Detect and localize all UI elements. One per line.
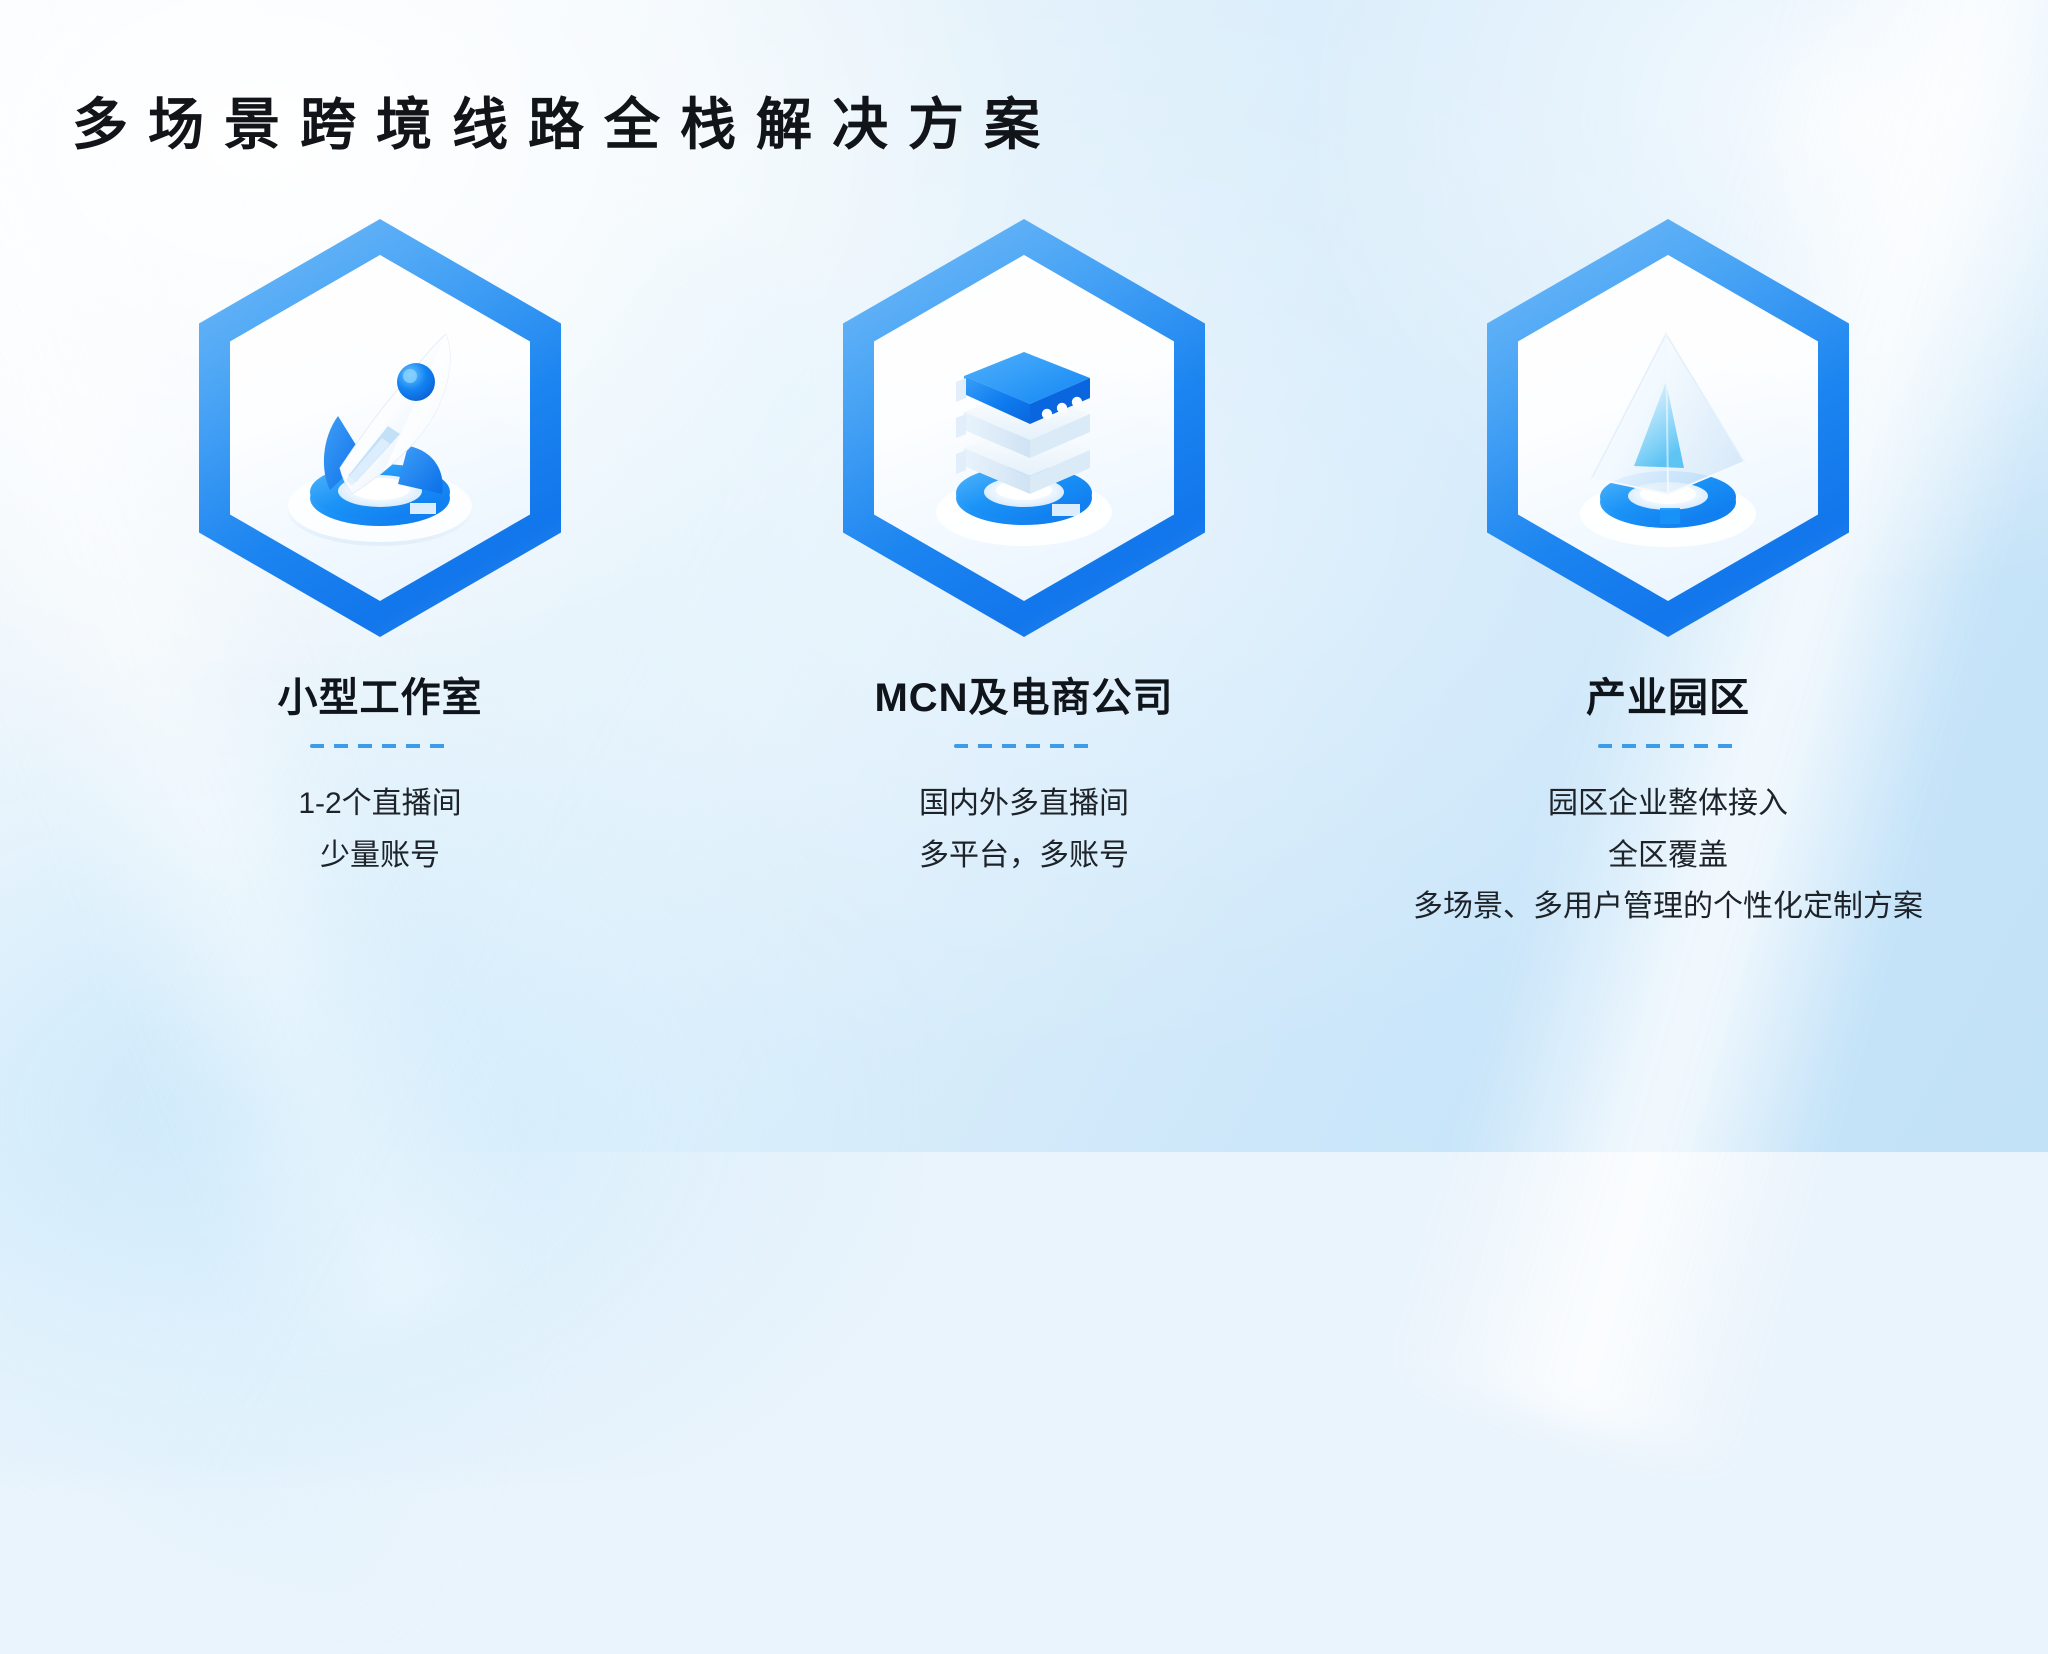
card-mcn-ecommerce[interactable]: MCN及电商公司 国内外多直播间 多平台，多账号 xyxy=(764,208,1284,933)
page-title: 多场景跨境线路全栈解决方案 xyxy=(72,94,1060,156)
rocket-hexagon-icon xyxy=(180,208,580,648)
card-industrial-park[interactable]: 产业园区 园区企业整体接入 全区覆盖 多场景、多用户管理的个性化定制方案 xyxy=(1408,208,1928,933)
card-description-line: 多场景、多用户管理的个性化定制方案 xyxy=(1413,881,1923,933)
glass-pyramid-hexagon-icon xyxy=(1468,208,1868,648)
rocket-svg xyxy=(260,298,500,558)
card-description-line: 全区覆盖 xyxy=(1413,830,1923,882)
card-divider xyxy=(954,744,1094,748)
card-small-studio[interactable]: 小型工作室 1-2个直播间 少量账号 xyxy=(120,208,640,933)
card-title: MCN及电商公司 xyxy=(874,674,1173,722)
pyramid-svg xyxy=(1548,298,1788,558)
server-stack-illustration xyxy=(874,255,1174,601)
card-description-line: 园区企业整体接入 xyxy=(1413,778,1923,830)
card-title: 产业园区 xyxy=(1586,674,1750,722)
card-description: 1-2个直播间 少量账号 xyxy=(298,778,461,881)
solution-cards-row: 小型工作室 1-2个直播间 少量账号 xyxy=(0,208,2048,933)
server-stack-svg xyxy=(904,298,1144,558)
card-description-line: 1-2个直播间 xyxy=(298,778,461,830)
card-description-line: 国内外多直播间 xyxy=(919,778,1129,830)
card-description: 园区企业整体接入 全区覆盖 多场景、多用户管理的个性化定制方案 xyxy=(1413,778,1923,933)
rocket-illustration xyxy=(230,255,530,601)
card-description-line: 多平台，多账号 xyxy=(919,830,1129,882)
card-divider xyxy=(310,744,450,748)
card-description: 国内外多直播间 多平台，多账号 xyxy=(919,778,1129,881)
server-stack-hexagon-icon xyxy=(824,208,1224,648)
card-divider xyxy=(1598,744,1738,748)
card-title: 小型工作室 xyxy=(278,674,483,722)
card-description-line: 少量账号 xyxy=(298,830,461,882)
pyramid-illustration xyxy=(1518,255,1818,601)
